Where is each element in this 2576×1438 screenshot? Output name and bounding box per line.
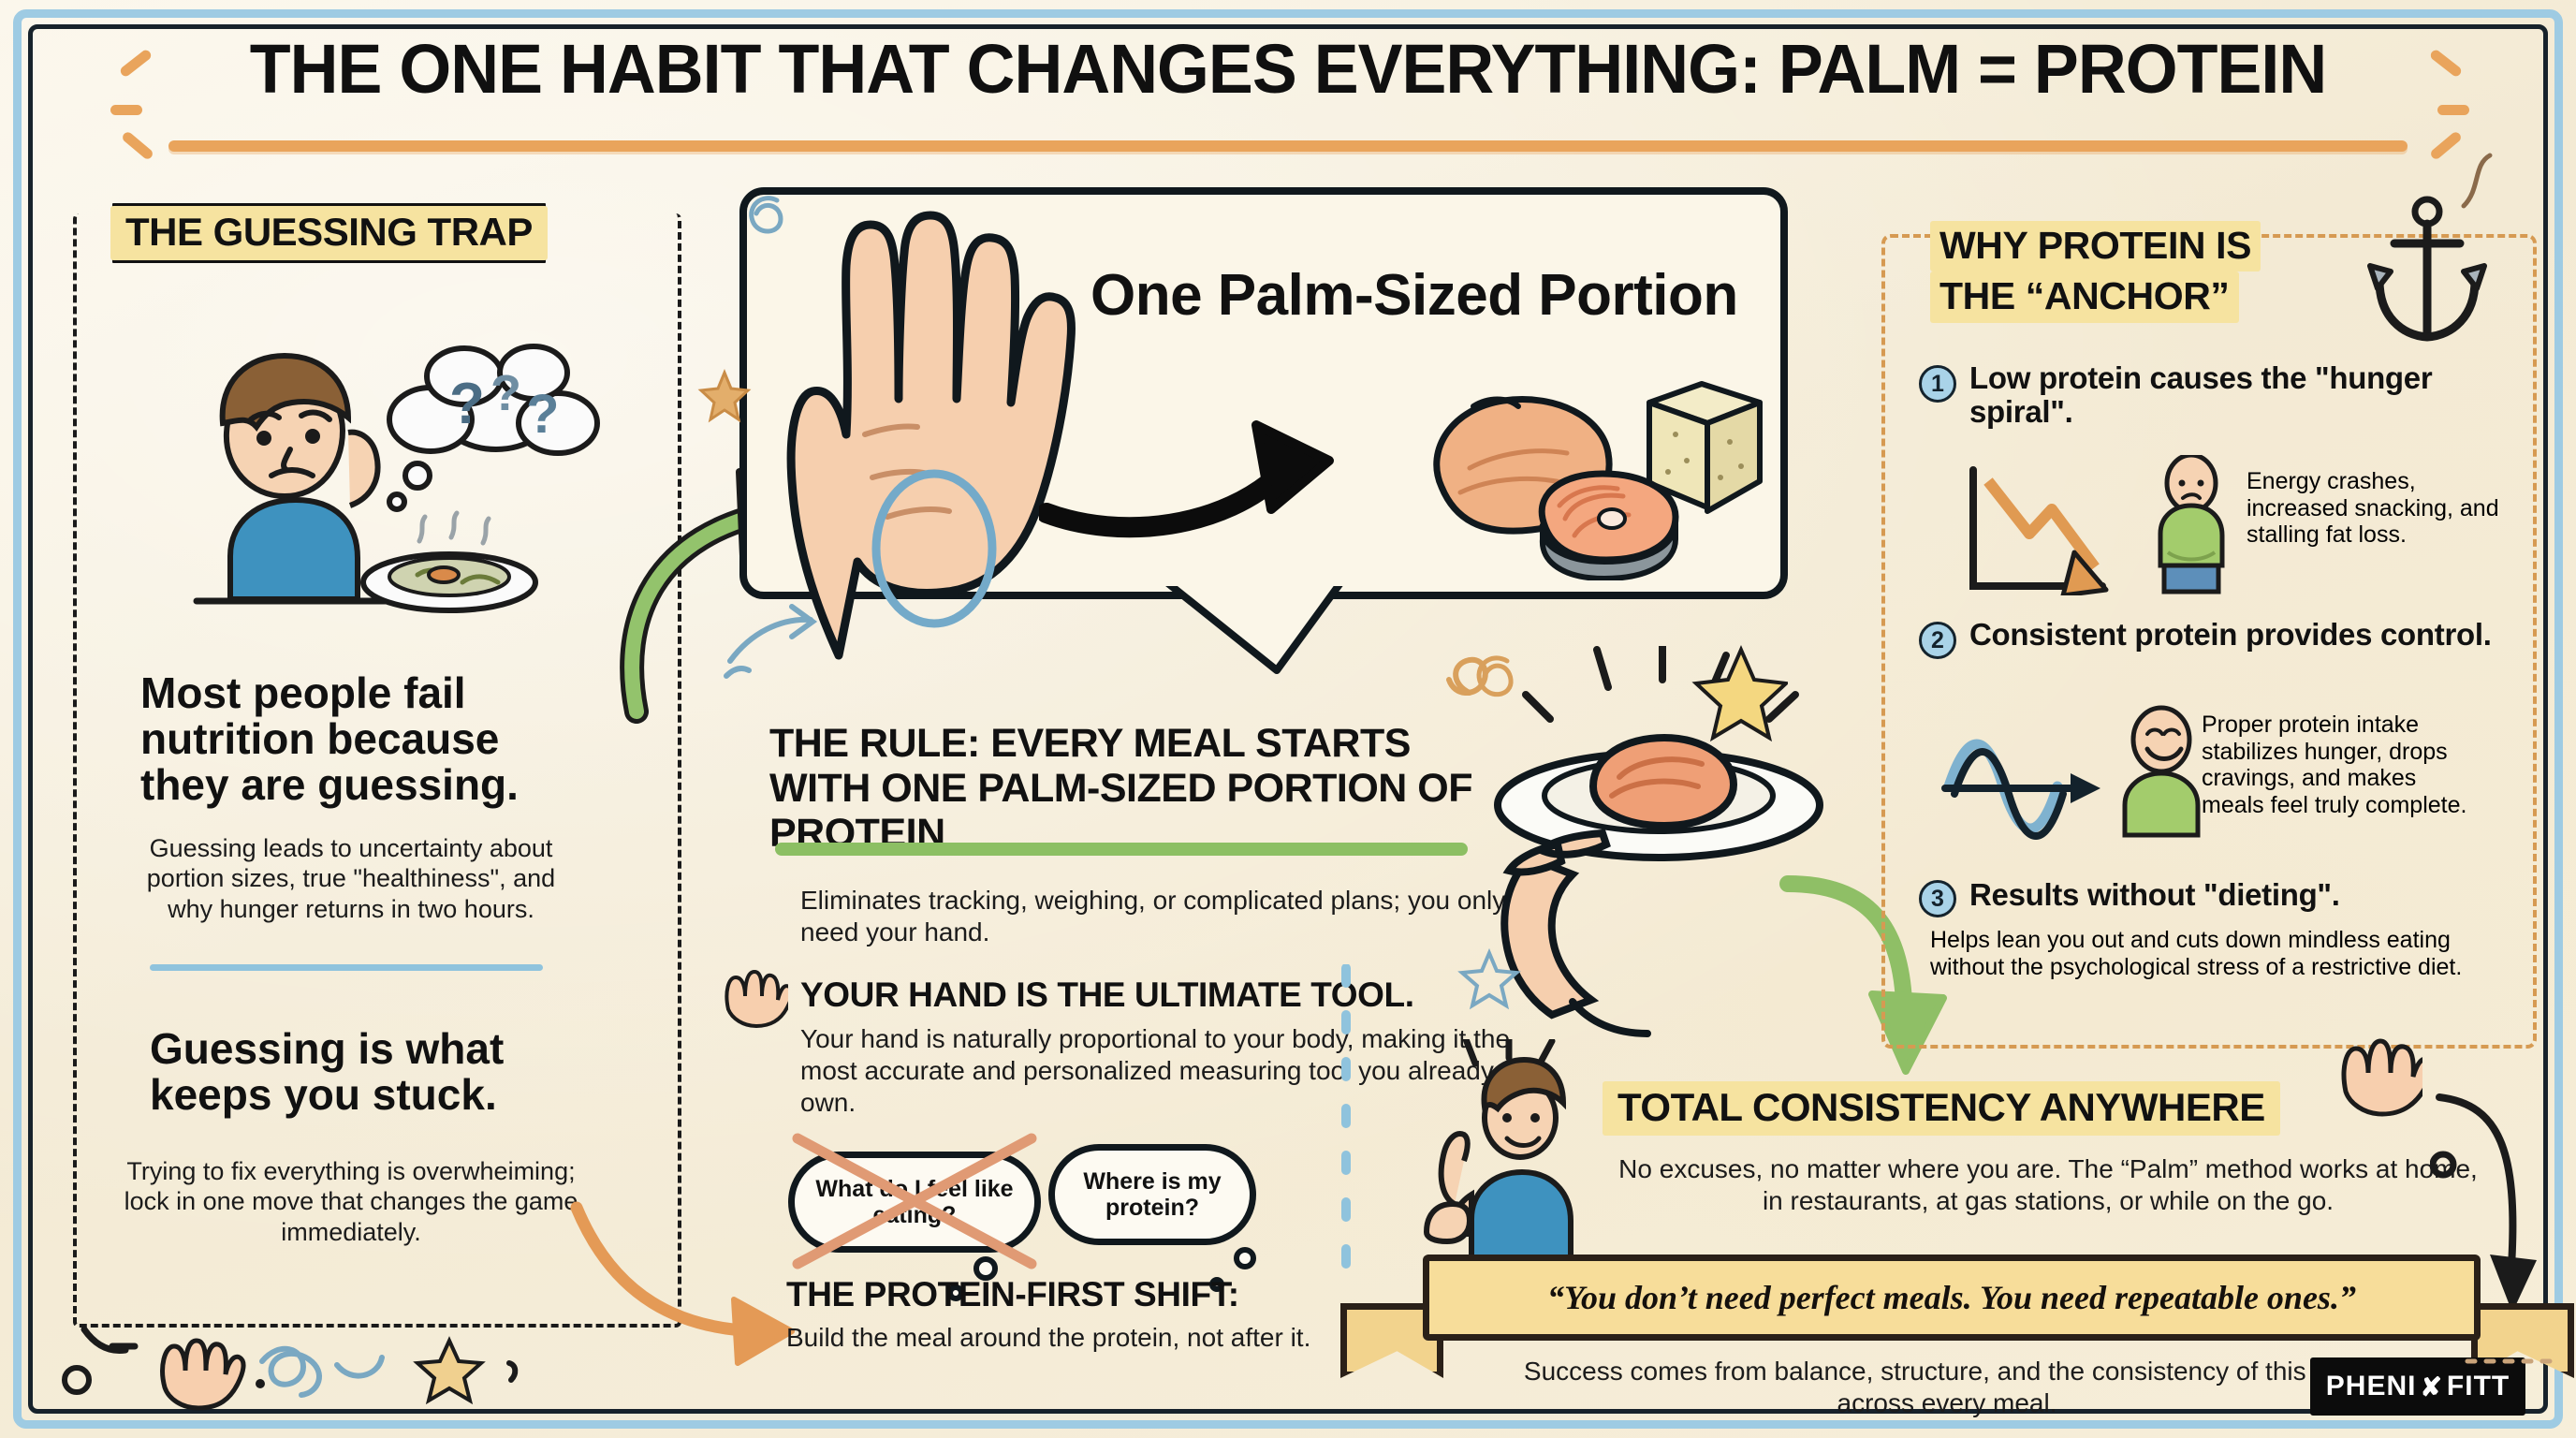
item-title: Consistent protein provides control. (1969, 618, 2509, 652)
left-body-1: Guessing leads to uncertainty about port… (122, 833, 580, 924)
palm-portion-bubble (739, 187, 1788, 599)
item-number-badge: 3 (1919, 880, 1956, 917)
phoenix-icon: ✘ (2420, 1372, 2442, 1402)
thought-bubble-kept: Where is my protein? (1048, 1144, 1256, 1245)
rule-underline (775, 843, 1468, 856)
total-consistency-header-label: TOTAL CONSISTENCY ANYWHERE (1603, 1081, 2280, 1136)
spark-decor (2437, 105, 2469, 115)
anchor-item-3: 3 Results without "dieting". (1919, 878, 2518, 912)
anchor-item-2: 2 Consistent protein provides control. (1919, 618, 2509, 652)
logo-right-text: FITT (2447, 1371, 2510, 1402)
tool-body: Your hand is naturally proportional to y… (800, 1023, 1521, 1119)
guessing-trap-header: THE GUESSING TRAP (110, 206, 548, 260)
total-consistency-body: No excuses, no matter where you are. The… (1608, 1153, 2488, 1217)
spark-decor (110, 105, 142, 115)
why-protein-header-line1: WHY PROTEIN IS (1930, 221, 2261, 271)
item-body: Proper protein intake stabilizes hunger,… (2202, 712, 2482, 818)
left-body-2: Trying to fix everything is overwheiming… (122, 1156, 580, 1247)
logo-left-text: PHENI (2326, 1371, 2417, 1402)
infographic-poster: THE ONE HABIT THAT CHANGES EVERYTHING: P… (0, 0, 2576, 1438)
brand-logo: PHENI ✘ FITT (2310, 1357, 2525, 1416)
item-number-badge: 1 (1919, 365, 1956, 403)
left-divider (150, 964, 543, 971)
cross-out-icon (784, 1131, 1046, 1271)
item-body: Energy crashes, increased snacking, and … (2247, 468, 2518, 549)
why-protein-header: WHY PROTEIN IS THE “ANCHOR” (1930, 221, 2417, 323)
thought-dot (1234, 1247, 1256, 1269)
rule-body: Eliminates tracking, weighing, or compli… (800, 885, 1512, 948)
page-title: THE ONE HABIT THAT CHANGES EVERYTHING: P… (38, 34, 2537, 104)
rule-headline: THE RULE: EVERY MEAL STARTS WITH ONE PAL… (769, 721, 1518, 856)
anchor-item-1: 1 Low protein causes the "hunger spiral"… (1919, 361, 2499, 430)
ribbon-quote: “You don’t need perfect meals. You need … (1547, 1278, 2356, 1317)
closing-text: Success comes from balance, structure, a… (1498, 1356, 2396, 1418)
left-headline-2: Guessing is what keeps you stuck. (150, 1026, 524, 1118)
tool-headline: YOUR HAND IS THE ULTIMATE TOOL. (800, 976, 1530, 1015)
item-body: Helps lean you out and cuts down mindles… (1930, 927, 2492, 980)
item-title: Results without "dieting". (1969, 878, 2518, 912)
guessing-trap-header-label: THE GUESSING TRAP (110, 206, 548, 260)
left-headline-1: Most people fail nutrition because they … (140, 670, 534, 807)
why-protein-header-line2: THE “ANCHOR” (1930, 271, 2239, 322)
bubble-text: One Palm-Sized Portion (1090, 262, 1738, 329)
quote-ribbon: “You don’t need perfect meals. You need … (1423, 1255, 2481, 1341)
shift-body: Build the meal around the protein, not a… (786, 1322, 1385, 1354)
item-number-badge: 2 (1919, 622, 1956, 659)
title-underline (168, 140, 2408, 152)
item-title: Low protein causes the "hunger spiral". (1969, 361, 2499, 430)
total-consistency-header: TOTAL CONSISTENCY ANYWHERE (1603, 1081, 2280, 1136)
